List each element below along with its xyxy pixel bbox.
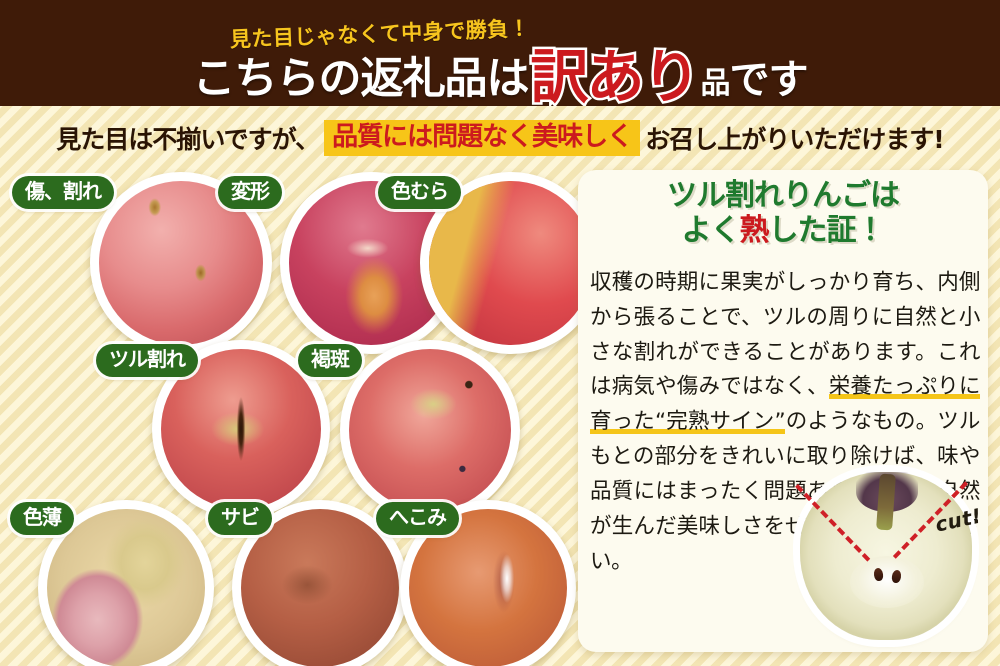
defect-badge-kappan: 褐斑 xyxy=(298,344,362,377)
panel-heading-accent: 熟 xyxy=(740,213,769,248)
subtitle-after: お召し上がりいただけます! xyxy=(645,120,943,156)
defect-badge-kizu-ware: 傷、割れ xyxy=(12,176,114,209)
apple-photo-kappan xyxy=(340,340,520,520)
defect-badge-hekomi: へこみ xyxy=(376,502,459,535)
defect-badge-irousu: 色薄 xyxy=(10,502,74,535)
apple-image-pale xyxy=(47,509,205,666)
cut-apple-illustration: cut! xyxy=(792,464,984,650)
header-title-part1: こちらの返礼品は xyxy=(192,44,528,106)
defect-badge-henkei: 変形 xyxy=(218,176,282,209)
header-title-part2: 品 xyxy=(701,58,730,102)
apple-image-russet xyxy=(241,509,399,666)
defect-badge-sabi: サビ xyxy=(208,502,272,535)
header-title-part3: です xyxy=(730,47,808,105)
apple-core xyxy=(850,556,924,608)
panel-heading-line2-c: した証！ xyxy=(769,213,885,248)
subtitle-before: 見た目は不揃いですが、 xyxy=(56,120,319,156)
panel-heading: ツル割れりんごは よく熟した証！ xyxy=(578,178,988,249)
header-title-highlight: 訳あり xyxy=(530,50,698,105)
header-title: こちらの返礼品は 訳あり 品 です xyxy=(0,44,1000,106)
defect-photo-grid: 傷、割れ 変形 色むら ツル割れ 褐斑 xyxy=(0,168,578,666)
defect-badge-tsuruware: ツル割れ xyxy=(96,344,198,377)
subtitle-line: 見た目は不揃いですが、 品質には問題なく美味しく お召し上がりいただけます! xyxy=(0,112,1000,164)
subtitle-highlight: 品質には問題なく美味しく xyxy=(324,120,640,156)
infographic-page: 見た目じゃなくて中身で勝負！ こちらの返礼品は 訳あり 品 です 見た目は不揃い… xyxy=(0,0,1000,666)
panel-heading-line1: ツル割れりんごは xyxy=(578,178,988,213)
panel-body-highlight2: “完熟サイン” xyxy=(655,409,785,434)
apple-image-brown-spot xyxy=(349,349,511,511)
defect-badge-iromura: 色むら xyxy=(378,176,461,209)
panel-heading-line2-a: よく xyxy=(682,213,740,248)
header-banner: 見た目じゃなくて中身で勝負！ こちらの返礼品は 訳あり 品 です xyxy=(0,0,1000,106)
panel-heading-line2: よく熟した証！ xyxy=(578,213,988,248)
explanation-panel: ツル割れりんごは よく熟した証！ 収穫の時期に果実がしっかり育ち、内側から張るこ… xyxy=(578,170,988,652)
